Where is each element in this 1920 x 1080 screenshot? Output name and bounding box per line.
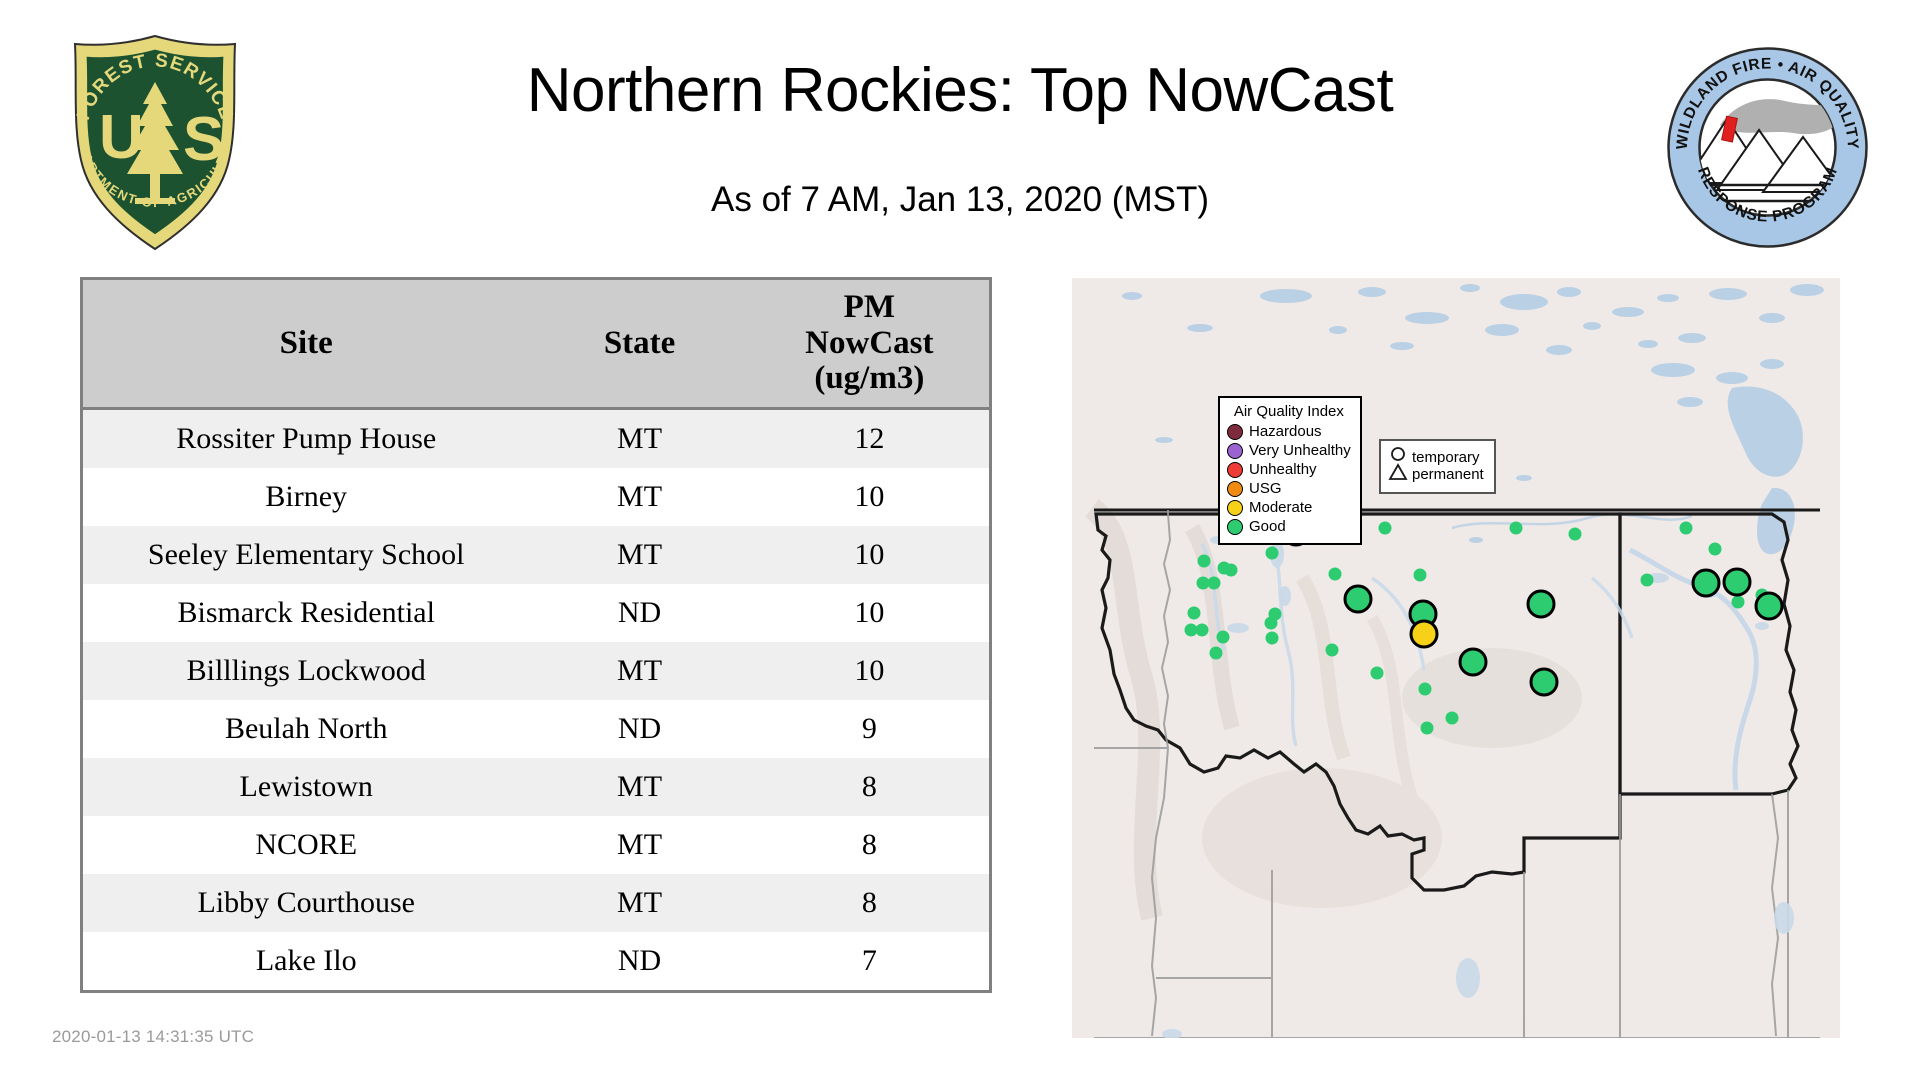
site-cell: Bismarck Residential — [82, 584, 530, 642]
column-header-pm-nowcast[interactable]: PM NowCast (ug/m3) — [750, 279, 991, 409]
column-header-pm-line1: PM — [844, 289, 895, 325]
site-cell: Lewistown — [82, 758, 530, 816]
aqi-legend-item: Moderate — [1227, 498, 1351, 517]
monitor-marker-large[interactable] — [1531, 669, 1557, 695]
state-cell: MT — [529, 642, 749, 700]
state-cell: MT — [529, 758, 749, 816]
aqi-legend-item: Very Unhealthy — [1227, 441, 1351, 460]
monitor-marker-large[interactable] — [1411, 621, 1437, 647]
table-row[interactable]: LewistownMT8 — [82, 758, 991, 816]
wfaqrp-logo: WILDLAND FIRE • AIR QUALITY RESPONSE PRO… — [1665, 45, 1870, 250]
state-cell: ND — [529, 584, 749, 642]
monitor-marker-small[interactable] — [1446, 712, 1459, 725]
site-cell: Rossiter Pump House — [82, 408, 530, 468]
aqi-legend-item: Hazardous — [1227, 422, 1351, 441]
aqi-legend-label: Good — [1249, 518, 1286, 535]
page-title: Northern Rockies: Top NowCast — [300, 55, 1620, 126]
table-row[interactable]: Bismarck ResidentialND10 — [82, 584, 991, 642]
monitor-marker-small[interactable] — [1217, 631, 1230, 644]
pm-cell: 10 — [750, 526, 991, 584]
monitor-marker-large[interactable] — [1528, 591, 1554, 617]
column-header-site[interactable]: Site — [82, 279, 530, 409]
aqi-legend-item: Unhealthy — [1227, 460, 1351, 479]
monitor-marker-small[interactable] — [1732, 596, 1745, 609]
aqi-color-swatch — [1227, 500, 1243, 516]
aqi-legend-label: Hazardous — [1249, 423, 1322, 440]
monitor-marker-small[interactable] — [1198, 555, 1211, 568]
temporary-circle-icon — [1392, 448, 1404, 460]
temporary-label: temporary — [1412, 450, 1484, 466]
monitor-marker-small[interactable] — [1419, 683, 1432, 696]
aqi-color-swatch — [1227, 443, 1243, 459]
table-row[interactable]: Beulah NorthND9 — [82, 700, 991, 758]
pm-cell: 8 — [750, 816, 991, 874]
monitor-marker-small[interactable] — [1326, 644, 1339, 657]
site-cell: Beulah North — [82, 700, 530, 758]
monitor-marker-small[interactable] — [1569, 528, 1582, 541]
monitor-marker-small[interactable] — [1266, 547, 1279, 560]
aqi-legend-label: Unhealthy — [1249, 461, 1317, 478]
table-row[interactable]: Libby CourthouseMT8 — [82, 874, 991, 932]
column-header-state[interactable]: State — [529, 279, 749, 409]
aqi-legend-label: Very Unhealthy — [1249, 442, 1351, 459]
site-cell: Billlings Lockwood — [82, 642, 530, 700]
monitor-type-legend: temporary permanent — [1379, 439, 1496, 494]
aqi-legend-label: USG — [1249, 480, 1282, 497]
aqi-color-swatch — [1227, 462, 1243, 478]
monitor-marker-large[interactable] — [1756, 593, 1782, 619]
pm-cell: 10 — [750, 584, 991, 642]
monitor-marker-large[interactable] — [1693, 570, 1719, 596]
monitor-marker-small[interactable] — [1265, 617, 1278, 630]
table-row[interactable]: Rossiter Pump HouseMT12 — [82, 408, 991, 468]
state-cell: ND — [529, 932, 749, 992]
monitor-marker-small[interactable] — [1225, 564, 1238, 577]
page-subtitle: As of 7 AM, Jan 13, 2020 (MST) — [300, 180, 1620, 220]
aqi-legend-title: Air Quality Index — [1227, 403, 1351, 420]
generation-timestamp: 2020-01-13 14:31:35 UTC — [52, 1027, 254, 1047]
monitor-marker-small[interactable] — [1196, 624, 1209, 637]
pm-cell: 8 — [750, 874, 991, 932]
state-cell: MT — [529, 816, 749, 874]
aqi-color-swatch — [1227, 519, 1243, 535]
monitor-marker-small[interactable] — [1188, 607, 1201, 620]
column-header-site-label: Site — [280, 325, 333, 361]
monitor-marker-small[interactable] — [1208, 577, 1221, 590]
table-header-row: Site State PM NowCast (ug/m3) — [82, 279, 991, 409]
monitor-marker-small[interactable] — [1210, 647, 1223, 660]
aqi-color-swatch — [1227, 424, 1243, 440]
air-quality-map[interactable]: Air Quality Index HazardousVery Unhealth… — [1072, 278, 1840, 1038]
pm-cell: 12 — [750, 408, 991, 468]
aqi-legend-label: Moderate — [1249, 499, 1312, 516]
state-cell: MT — [529, 408, 749, 468]
table-row[interactable]: Lake IloND7 — [82, 932, 991, 992]
table-row[interactable]: NCOREMT8 — [82, 816, 991, 874]
permanent-label: permanent — [1412, 467, 1484, 483]
site-cell: Lake Ilo — [82, 932, 530, 992]
site-cell: NCORE — [82, 816, 530, 874]
pm-cell: 9 — [750, 700, 991, 758]
site-cell: Libby Courthouse — [82, 874, 530, 932]
state-cell: MT — [529, 874, 749, 932]
state-cell: MT — [529, 526, 749, 584]
pm-cell: 10 — [750, 642, 991, 700]
monitor-marker-large[interactable] — [1724, 569, 1750, 595]
monitor-marker-small[interactable] — [1414, 569, 1427, 582]
aqi-legend-item: USG — [1227, 479, 1351, 498]
aqi-legend-item: Good — [1227, 517, 1351, 536]
monitor-marker-small[interactable] — [1329, 568, 1342, 581]
table-row[interactable]: BirneyMT10 — [82, 468, 991, 526]
monitor-marker-small[interactable] — [1371, 667, 1384, 680]
monitor-marker-small[interactable] — [1510, 522, 1523, 535]
pm-cell: 7 — [750, 932, 991, 992]
aqi-color-swatch — [1227, 481, 1243, 497]
monitor-marker-small[interactable] — [1379, 522, 1392, 535]
column-header-state-label: State — [604, 325, 675, 361]
monitor-marker-small[interactable] — [1421, 722, 1434, 735]
permanent-triangle-icon — [1390, 465, 1406, 479]
forest-service-logo: FOREST SERVICE U S DEPARTMENT OF AGRICUL… — [55, 30, 255, 255]
site-cell: Birney — [82, 468, 530, 526]
pm-cell: 10 — [750, 468, 991, 526]
column-header-pm-line2: NowCast — [805, 325, 933, 361]
table-row[interactable]: Seeley Elementary SchoolMT10 — [82, 526, 991, 584]
monitor-marker-large[interactable] — [1345, 586, 1371, 612]
state-cell: ND — [529, 700, 749, 758]
pm-cell: 8 — [750, 758, 991, 816]
state-cell: MT — [529, 468, 749, 526]
monitor-marker-large[interactable] — [1460, 649, 1486, 675]
aqi-legend: Air Quality Index HazardousVery Unhealth… — [1218, 396, 1362, 545]
monitor-marker-small[interactable] — [1266, 632, 1279, 645]
table-row[interactable]: Billlings LockwoodMT10 — [82, 642, 991, 700]
monitor-type-shapes — [1388, 446, 1408, 487]
column-header-pm-line3: (ug/m3) — [814, 360, 924, 396]
monitor-marker-small[interactable] — [1680, 522, 1693, 535]
top-nowcast-table: Site State PM NowCast (ug/m3) Rossiter P… — [80, 277, 992, 993]
monitor-marker-small[interactable] — [1709, 543, 1722, 556]
monitor-marker-small[interactable] — [1641, 574, 1654, 587]
site-cell: Seeley Elementary School — [82, 526, 530, 584]
